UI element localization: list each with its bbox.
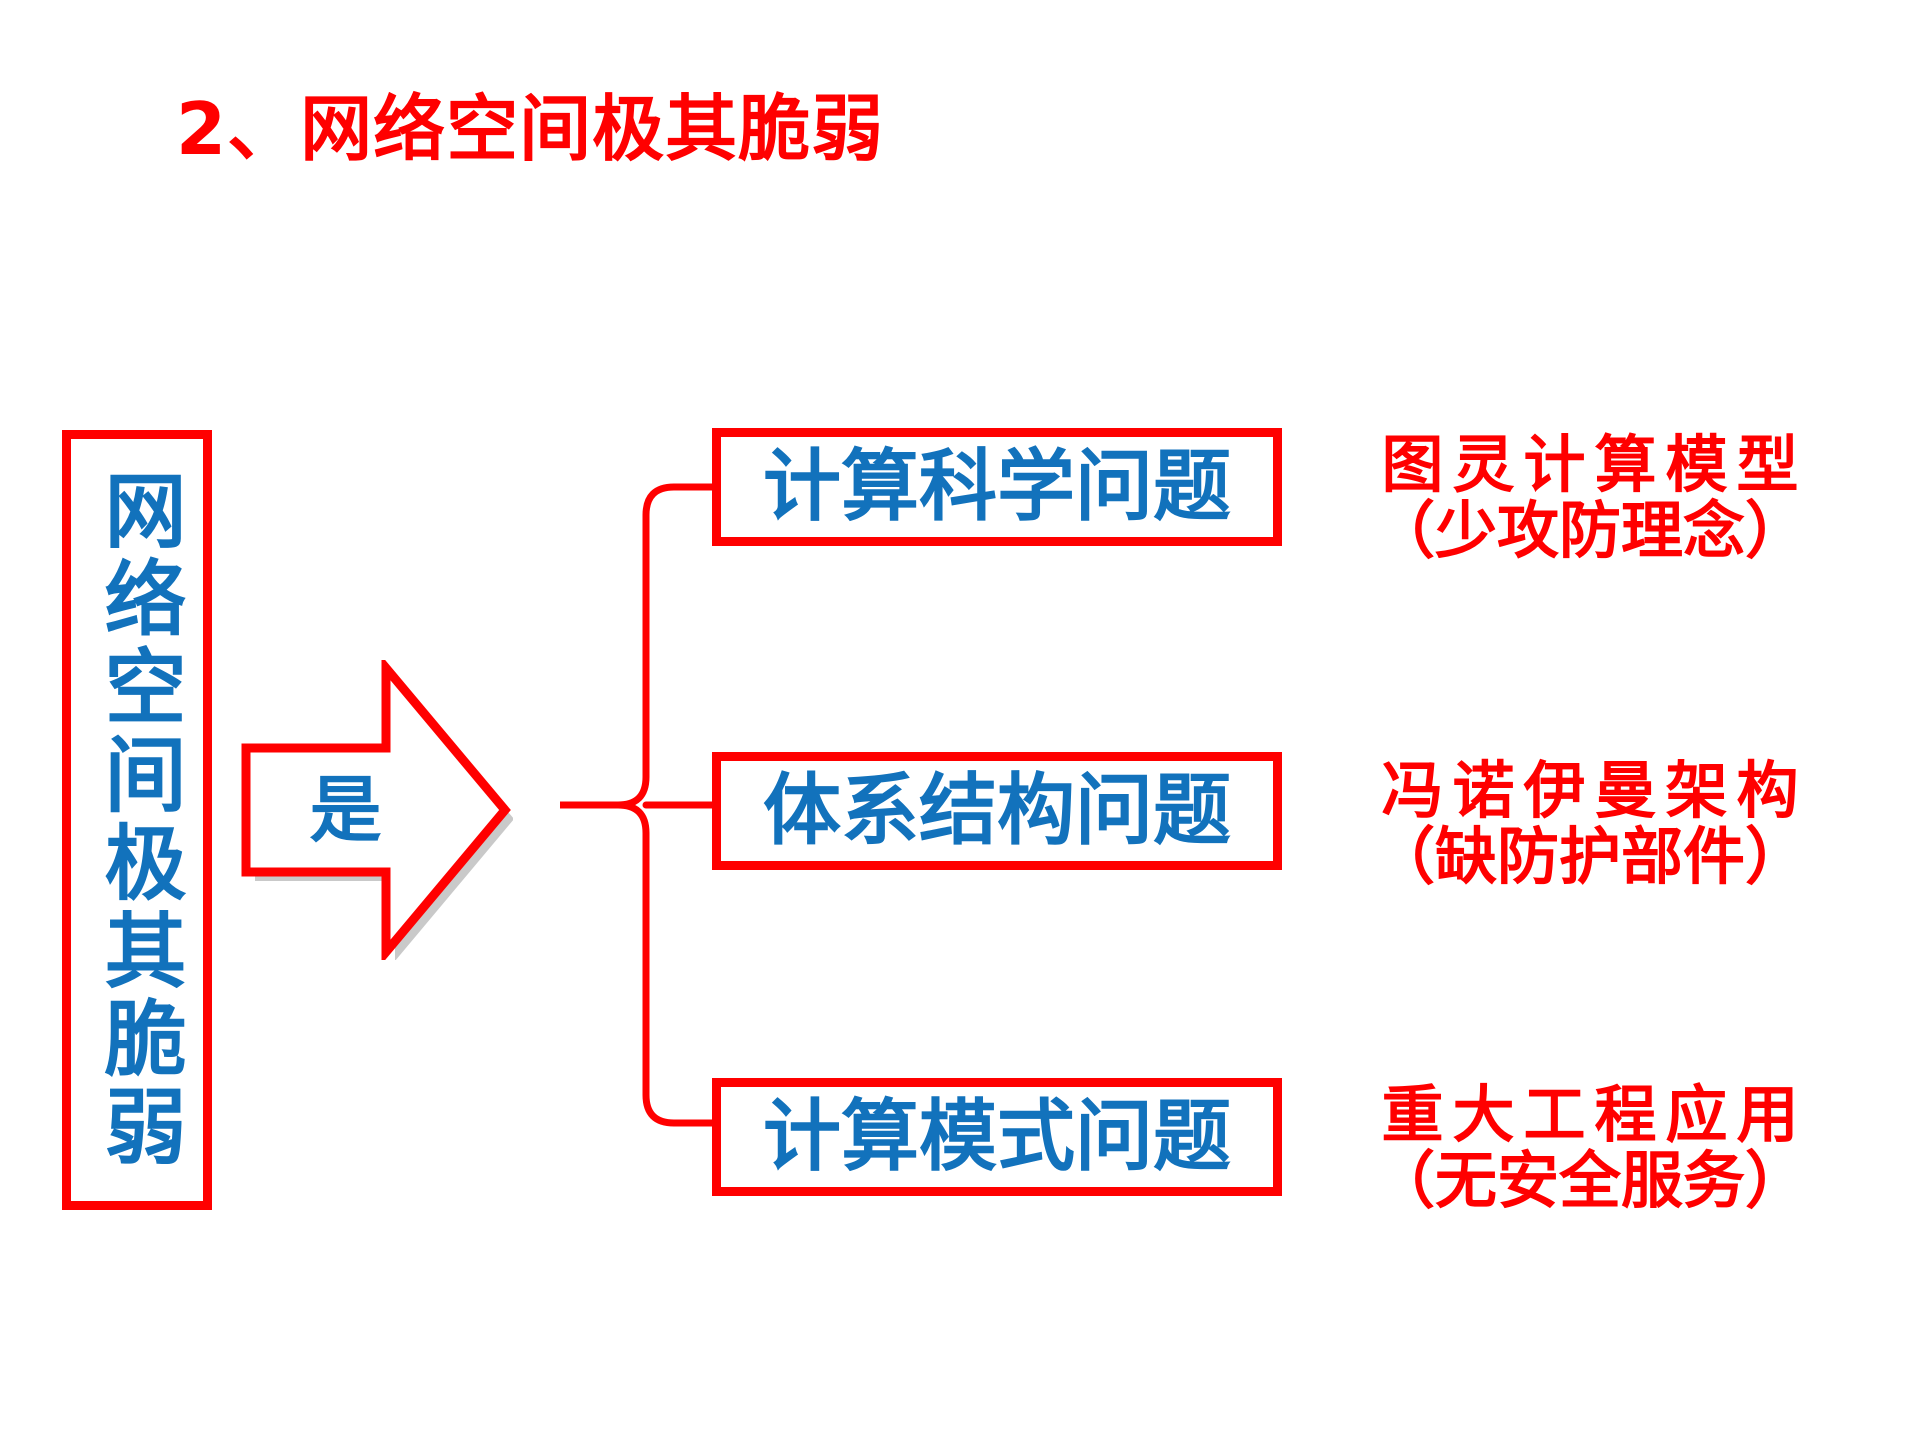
relation-arrow: 是	[238, 660, 513, 960]
branch-annotation-secondary: （缺防护部件）	[1340, 824, 1840, 890]
source-concept-box: 网络空间极其脆弱	[62, 430, 212, 1210]
branch-annotation-primary: 冯诺伊曼架构	[1340, 758, 1840, 824]
relation-arrow-label: 是	[238, 660, 453, 960]
branch-box-label: 体系结构问题	[763, 772, 1231, 850]
branch-annotation-primary: 图灵计算模型	[1340, 432, 1840, 498]
branch-box-2: 体系结构问题	[712, 752, 1282, 870]
branch-box-1: 计算科学问题	[712, 428, 1282, 546]
branch-box-3: 计算模式问题	[712, 1078, 1282, 1196]
branch-box-label: 计算科学问题	[763, 448, 1231, 526]
branch-annotation-secondary: （无安全服务）	[1340, 1148, 1840, 1214]
branch-annotation-1: 图灵计算模型 （少攻防理念）	[1340, 432, 1840, 563]
page-title: 2、网络空间极其脆弱	[176, 92, 884, 168]
branch-box-label: 计算模式问题	[763, 1098, 1231, 1176]
source-concept-label: 网络空间极其脆弱	[71, 439, 203, 1201]
branch-annotation-primary: 重大工程应用	[1340, 1082, 1840, 1148]
branch-annotation-secondary: （少攻防理念）	[1340, 498, 1840, 564]
slide-canvas: 2、网络空间极其脆弱 网络空间极其脆弱 是 计算科学问题 图灵计算模型 （少攻防…	[0, 0, 1920, 1440]
branch-annotation-2: 冯诺伊曼架构 （缺防护部件）	[1340, 758, 1840, 889]
branch-annotation-3: 重大工程应用 （无安全服务）	[1340, 1082, 1840, 1213]
